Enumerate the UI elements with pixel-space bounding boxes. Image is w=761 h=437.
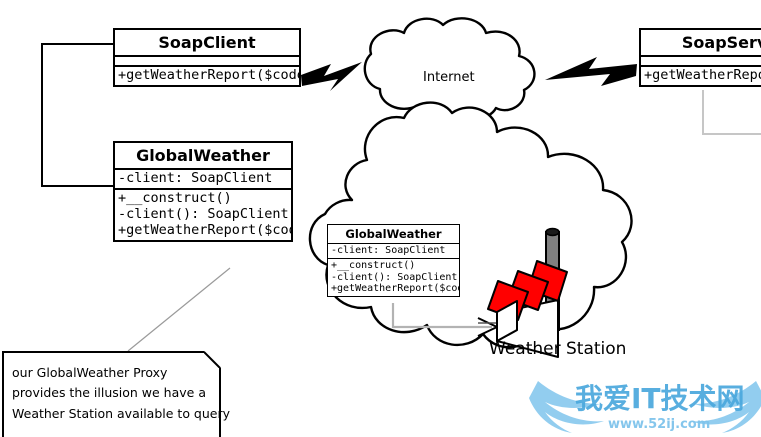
class-box-globalweather[interactable]: GlobalWeather -client: SoapClient +__con…	[113, 141, 293, 242]
note-line: provides the illusion we have a	[12, 383, 213, 403]
attributes-compartment-soapclient	[115, 57, 299, 65]
attributes-compartment-globalweather: -client: SoapClient	[115, 170, 291, 188]
operation-item: +getWeatherReport($code)	[644, 68, 761, 84]
operation-item: -client(): SoapClient	[331, 272, 456, 284]
operations-compartment-soapclient: +getWeatherReport($code)	[115, 67, 299, 85]
operation-item: -client(): SoapClient	[118, 207, 288, 223]
attribute-item: -client: SoapClient	[118, 171, 288, 187]
operation-item: +getWeatherReport($code)	[118, 68, 296, 84]
operation-item: +getWeatherReport($code)	[118, 223, 288, 239]
operation-item: +getWeatherReport($code)	[331, 283, 456, 295]
attributes-compartment-inner-globalweather: -client: SoapClient	[328, 244, 459, 258]
note-box[interactable]: our GlobalWeather Proxy provides the ill…	[2, 351, 221, 437]
weather-station-label: Weather Station	[489, 339, 626, 359]
class-box-soapserver[interactable]: SoapServer +getWeatherReport($code)	[639, 28, 761, 87]
operation-item: +__construct()	[331, 260, 456, 272]
diagram-canvas: SoapClient +getWeatherReport($code) Glob…	[0, 0, 761, 437]
class-name-soapclient: SoapClient	[115, 30, 299, 55]
note-line: Weather Station available to query	[12, 404, 213, 424]
attributes-compartment-soapserver	[641, 57, 761, 65]
attribute-item: -client: SoapClient	[331, 245, 456, 257]
note-text: our GlobalWeather Proxy provides the ill…	[12, 363, 213, 424]
operations-compartment-inner-globalweather: +__construct() -client(): SoapClient +ge…	[328, 259, 459, 296]
operations-compartment-soapserver: +getWeatherReport($code)	[641, 67, 761, 85]
class-name-inner-globalweather: GlobalWeather	[328, 225, 459, 243]
class-name-soapserver: SoapServer	[641, 30, 761, 55]
class-name-globalweather: GlobalWeather	[115, 143, 291, 168]
note-line: our GlobalWeather Proxy	[12, 363, 213, 383]
operations-compartment-globalweather: +__construct() -client(): SoapClient +ge…	[115, 190, 291, 240]
class-box-inner-globalweather[interactable]: GlobalWeather -client: SoapClient +__con…	[327, 224, 460, 297]
class-box-soapclient[interactable]: SoapClient +getWeatherReport($code)	[113, 28, 301, 87]
operation-item: +__construct()	[118, 191, 288, 207]
